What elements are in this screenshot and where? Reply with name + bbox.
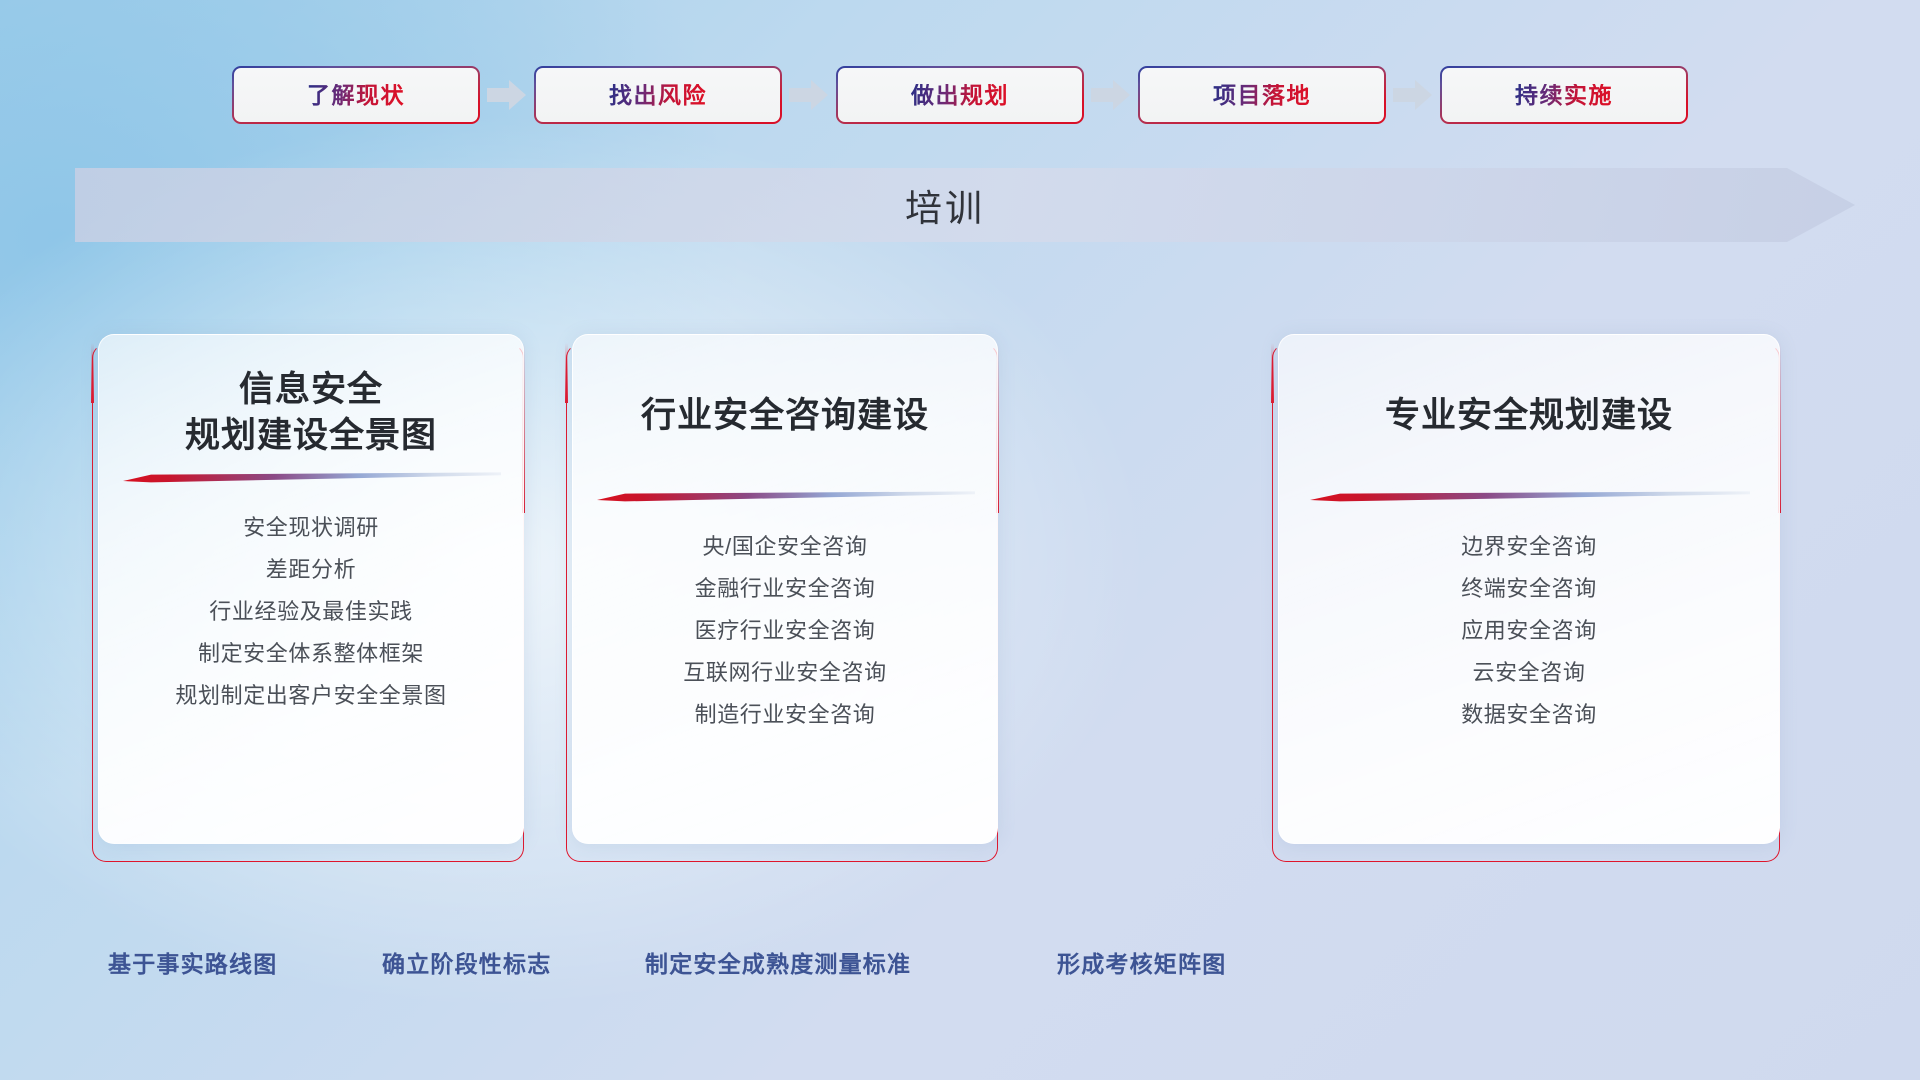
footer-label-assessment-matrix: 形成考核矩阵图: [1057, 938, 1226, 990]
card-divider: [121, 472, 501, 481]
card-professional-security-planning[interactable]: 专业安全规划建设: [1278, 334, 1780, 844]
card-divider: [595, 491, 975, 500]
card-slot-0: 信息安全 规划建设全景图: [92, 334, 524, 862]
card-row: 信息安全 规划建设全景图: [0, 334, 1920, 894]
list-item[interactable]: 央/国企安全咨询: [573, 526, 997, 568]
list-item[interactable]: 边界安全咨询: [1279, 526, 1779, 568]
step-arrow-icon-2: [1084, 75, 1138, 115]
card-title-line-1: 专业安全规划建设: [1279, 393, 1779, 439]
list-item[interactable]: 医疗行业安全咨询: [573, 610, 997, 652]
card-item-list: 边界安全咨询 终端安全咨询 应用安全咨询 云安全咨询 数据安全咨询: [1279, 526, 1779, 736]
list-item[interactable]: 制造行业安全咨询: [573, 694, 997, 736]
step-wrapper-3: 项目落地: [1138, 66, 1440, 124]
list-item[interactable]: 云安全咨询: [1279, 652, 1779, 694]
training-banner: 培训: [75, 168, 1855, 242]
step-label: 持续实施: [1515, 84, 1613, 107]
footer-label-phase-milestones: 确立阶段性标志: [382, 938, 551, 990]
list-item[interactable]: 规划制定出客户安全全景图: [99, 675, 523, 717]
step-label: 找出风险: [609, 84, 707, 107]
step-box-inner: 做出规划: [838, 68, 1082, 122]
step-box-make-plan[interactable]: 做出规划: [836, 66, 1084, 124]
list-item[interactable]: 行业经验及最佳实践: [99, 591, 523, 633]
step-box-inner: 持续实施: [1442, 68, 1686, 122]
card-information-security-blueprint[interactable]: 信息安全 规划建设全景图: [98, 334, 524, 844]
card-item-list: 安全现状调研 差距分析 行业经验及最佳实践 制定安全体系整体框架 规划制定出客户…: [99, 507, 523, 717]
card-slot-2: 专业安全规划建设: [1272, 334, 1780, 862]
step-box-identify-risk[interactable]: 找出风险: [534, 66, 782, 124]
card-title: 行业安全咨询建设: [573, 393, 997, 439]
list-item[interactable]: 制定安全体系整体框架: [99, 633, 523, 675]
step-arrow-icon-3: [1386, 75, 1440, 115]
step-label: 了解现状: [307, 84, 405, 107]
list-item[interactable]: 互联网行业安全咨询: [573, 652, 997, 694]
footer-label-maturity-standard: 制定安全成熟度测量标准: [645, 938, 911, 990]
card-title: 信息安全 规划建设全景图: [99, 367, 523, 458]
list-item[interactable]: 安全现状调研: [99, 507, 523, 549]
footer-label-fact-based-roadmap: 基于事实路线图: [108, 938, 277, 990]
list-item[interactable]: 金融行业安全咨询: [573, 568, 997, 610]
step-label: 做出规划: [911, 84, 1009, 107]
step-box-continuous-implementation[interactable]: 持续实施: [1440, 66, 1688, 124]
process-step-row: 了解现状 找出风险 做出规划 项目落地: [0, 60, 1920, 130]
step-box-inner: 找出风险: [536, 68, 780, 122]
card-divider: [1308, 491, 1750, 500]
list-item[interactable]: 数据安全咨询: [1279, 694, 1779, 736]
card-industry-security-consulting[interactable]: 行业安全咨询建设: [572, 334, 998, 844]
card-title-line-1: 信息安全: [99, 367, 523, 413]
list-item[interactable]: 终端安全咨询: [1279, 568, 1779, 610]
step-box-understand-status[interactable]: 了解现状: [232, 66, 480, 124]
step-wrapper-0: 了解现状: [232, 66, 534, 124]
card-item-list: 央/国企安全咨询 金融行业安全咨询 医疗行业安全咨询 互联网行业安全咨询 制造行…: [573, 526, 997, 736]
step-box-inner: 了解现状: [234, 68, 478, 122]
banner-title: 培训: [75, 168, 1855, 242]
step-box-inner: 项目落地: [1140, 68, 1384, 122]
list-item[interactable]: 差距分析: [99, 549, 523, 591]
card-title: 专业安全规划建设: [1279, 393, 1779, 439]
step-wrapper-4: 持续实施: [1440, 66, 1688, 124]
step-arrow-icon-0: [480, 75, 534, 115]
footer-label-row: 基于事实路线图 确立阶段性标志 制定安全成熟度测量标准 形成考核矩阵图: [0, 938, 1920, 990]
card-slot-1: 行业安全咨询建设: [566, 334, 998, 862]
step-wrapper-1: 找出风险: [534, 66, 836, 124]
list-item[interactable]: 应用安全咨询: [1279, 610, 1779, 652]
step-label: 项目落地: [1213, 84, 1311, 107]
card-title-line-1: 行业安全咨询建设: [573, 393, 997, 439]
step-arrow-icon-1: [782, 75, 836, 115]
step-wrapper-2: 做出规划: [836, 66, 1138, 124]
card-title-line-2: 规划建设全景图: [99, 413, 523, 459]
step-box-project-landing[interactable]: 项目落地: [1138, 66, 1386, 124]
